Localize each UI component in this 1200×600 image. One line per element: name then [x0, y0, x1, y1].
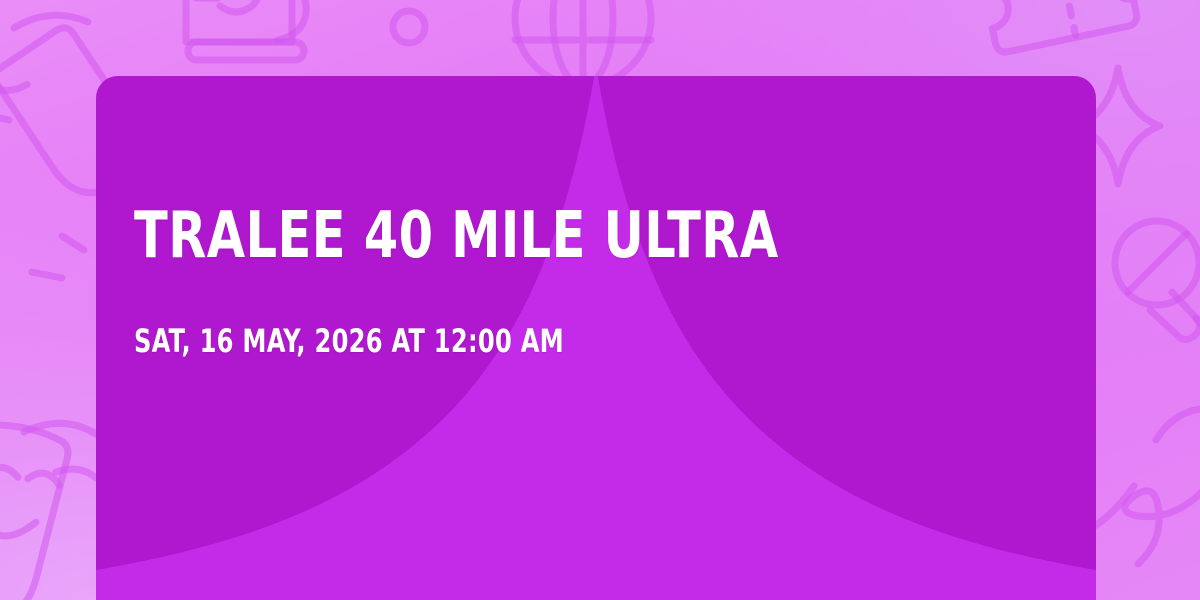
ticket-icon: [979, 0, 1139, 54]
event-title: TRALEE 40 MILE ULTRA: [134, 204, 961, 268]
theatre-masks-icon: [0, 413, 107, 600]
circle-icon: [393, 0, 425, 43]
laptop-icon: [186, 0, 306, 60]
microphone-icon: [1115, 221, 1200, 362]
event-banner: TRALEE 40 MILE ULTRA SAT, 16 MAY, 2026 A…: [0, 0, 1200, 600]
dot-icon: [32, 236, 84, 278]
event-date-time: SAT, 16 MAY, 2026 AT 12:00 AM: [134, 325, 942, 357]
globe-icon: [515, 0, 651, 86]
card-content: TRALEE 40 MILE ULTRA SAT, 16 MAY, 2026 A…: [96, 76, 1096, 357]
event-card[interactable]: TRALEE 40 MILE ULTRA SAT, 16 MAY, 2026 A…: [96, 76, 1096, 600]
